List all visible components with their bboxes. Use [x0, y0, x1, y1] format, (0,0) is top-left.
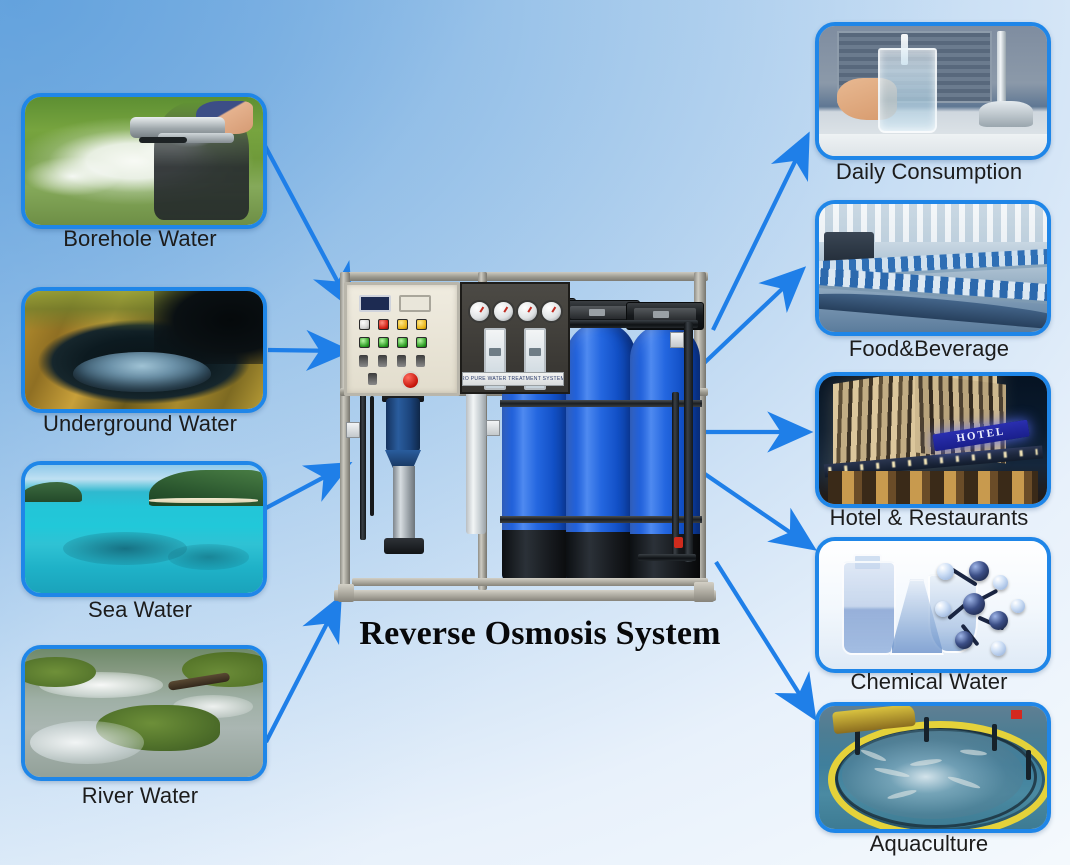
page-title: Reverse Osmosis System	[340, 615, 740, 653]
frame-top-beam	[340, 272, 708, 281]
arrow-underground-to-system	[268, 350, 344, 351]
indicator-lamp-2	[378, 319, 389, 330]
ro-membrane-housing	[466, 384, 486, 534]
right-drain-pipe	[672, 392, 679, 560]
selector-switch-5[interactable]	[368, 373, 377, 385]
source-card-seawater[interactable]	[21, 461, 267, 597]
application-card-aquaculture[interactable]	[815, 702, 1051, 833]
molecule-icon	[933, 549, 1042, 662]
indicator-lamp-3	[397, 319, 408, 330]
skid-foot-right	[694, 582, 714, 602]
digital-display-1	[359, 295, 391, 312]
source-label-underground: Underground Water	[21, 411, 259, 437]
frp-tank-2	[566, 322, 636, 584]
application-card-daily-consumption[interactable]	[815, 22, 1051, 160]
selector-switch-3[interactable]	[397, 355, 406, 367]
indicator-lamp-4	[416, 319, 427, 330]
reverse-osmosis-system-unit[interactable]: RO PURE WATER TREATMENT SYSTEM	[338, 272, 728, 612]
application-label-aquaculture: Aquaculture	[805, 831, 1053, 857]
control-panel[interactable]	[344, 282, 460, 396]
indicator-lamp-6	[378, 337, 389, 348]
panel-nameplate: RO PURE WATER TREATMENT SYSTEM	[462, 372, 564, 386]
bottling-line-photo	[819, 204, 1047, 332]
pump-body	[393, 466, 415, 540]
source-card-underground[interactable]	[21, 287, 267, 413]
lower-outlet-pipe	[638, 554, 696, 561]
application-label-hotel-restaurants: Hotel & Restaurants	[805, 505, 1053, 531]
pressure-gauge-4	[540, 300, 563, 323]
underground-photo	[25, 291, 263, 409]
arrow-river-to-system	[266, 602, 338, 742]
drinking-glass-photo	[819, 26, 1047, 156]
pressure-gauge-1	[468, 300, 491, 323]
skid-foot-left	[338, 584, 354, 602]
pressure-gauge-3	[516, 300, 539, 323]
high-pressure-pump-motor	[386, 398, 420, 452]
source-label-seawater: Sea Water	[21, 597, 259, 623]
indicator-lamp-1	[359, 319, 370, 330]
laboratory-photo	[819, 541, 1047, 669]
application-label-chemical-water: Chemical Water	[805, 669, 1053, 695]
application-label-daily-consumption: Daily Consumption	[805, 159, 1053, 185]
right-riser-pipe	[684, 322, 693, 562]
selector-switch-4[interactable]	[416, 355, 425, 367]
valve-indicator-c	[346, 422, 360, 438]
valve-indicator-b	[486, 420, 500, 436]
emergency-stop-button[interactable]	[401, 371, 420, 390]
source-label-borehole: Borehole Water	[21, 226, 259, 252]
indicator-lamp-7	[397, 337, 408, 348]
application-card-food-beverage[interactable]	[815, 200, 1051, 336]
arrow-borehole-to-system	[264, 144, 349, 303]
pump-suction-pipe	[360, 390, 366, 540]
arrow-seawater-to-system	[266, 466, 345, 508]
borehole-photo	[25, 97, 263, 225]
selector-switch-1[interactable]	[359, 355, 368, 367]
hotel-photo: HOTEL	[819, 376, 1047, 504]
seawater-photo	[25, 465, 263, 593]
application-label-food-beverage: Food&Beverage	[805, 336, 1053, 362]
valve-indicator-a	[670, 332, 684, 348]
indicator-lamp-8	[416, 337, 427, 348]
source-card-borehole[interactable]	[21, 93, 267, 229]
application-card-hotel-restaurants[interactable]: HOTEL	[815, 372, 1051, 508]
source-card-river[interactable]	[21, 645, 267, 781]
digital-display-2	[399, 295, 431, 312]
application-card-chemical-water[interactable]	[815, 537, 1051, 673]
selector-switch-2[interactable]	[378, 355, 387, 367]
pump-cable	[370, 396, 374, 516]
red-valve-handle[interactable]	[674, 537, 683, 548]
infographic-canvas: Borehole Water Underground Water Sea Wat…	[0, 0, 1070, 865]
skid-base-front	[334, 590, 716, 601]
skid-base-rear	[352, 578, 708, 586]
source-label-river: River Water	[21, 783, 259, 809]
pump-base	[384, 538, 424, 554]
river-photo	[25, 649, 263, 777]
fish-farm-photo	[819, 706, 1047, 829]
pressure-gauge-2	[492, 300, 515, 323]
indicator-lamp-5	[359, 337, 370, 348]
